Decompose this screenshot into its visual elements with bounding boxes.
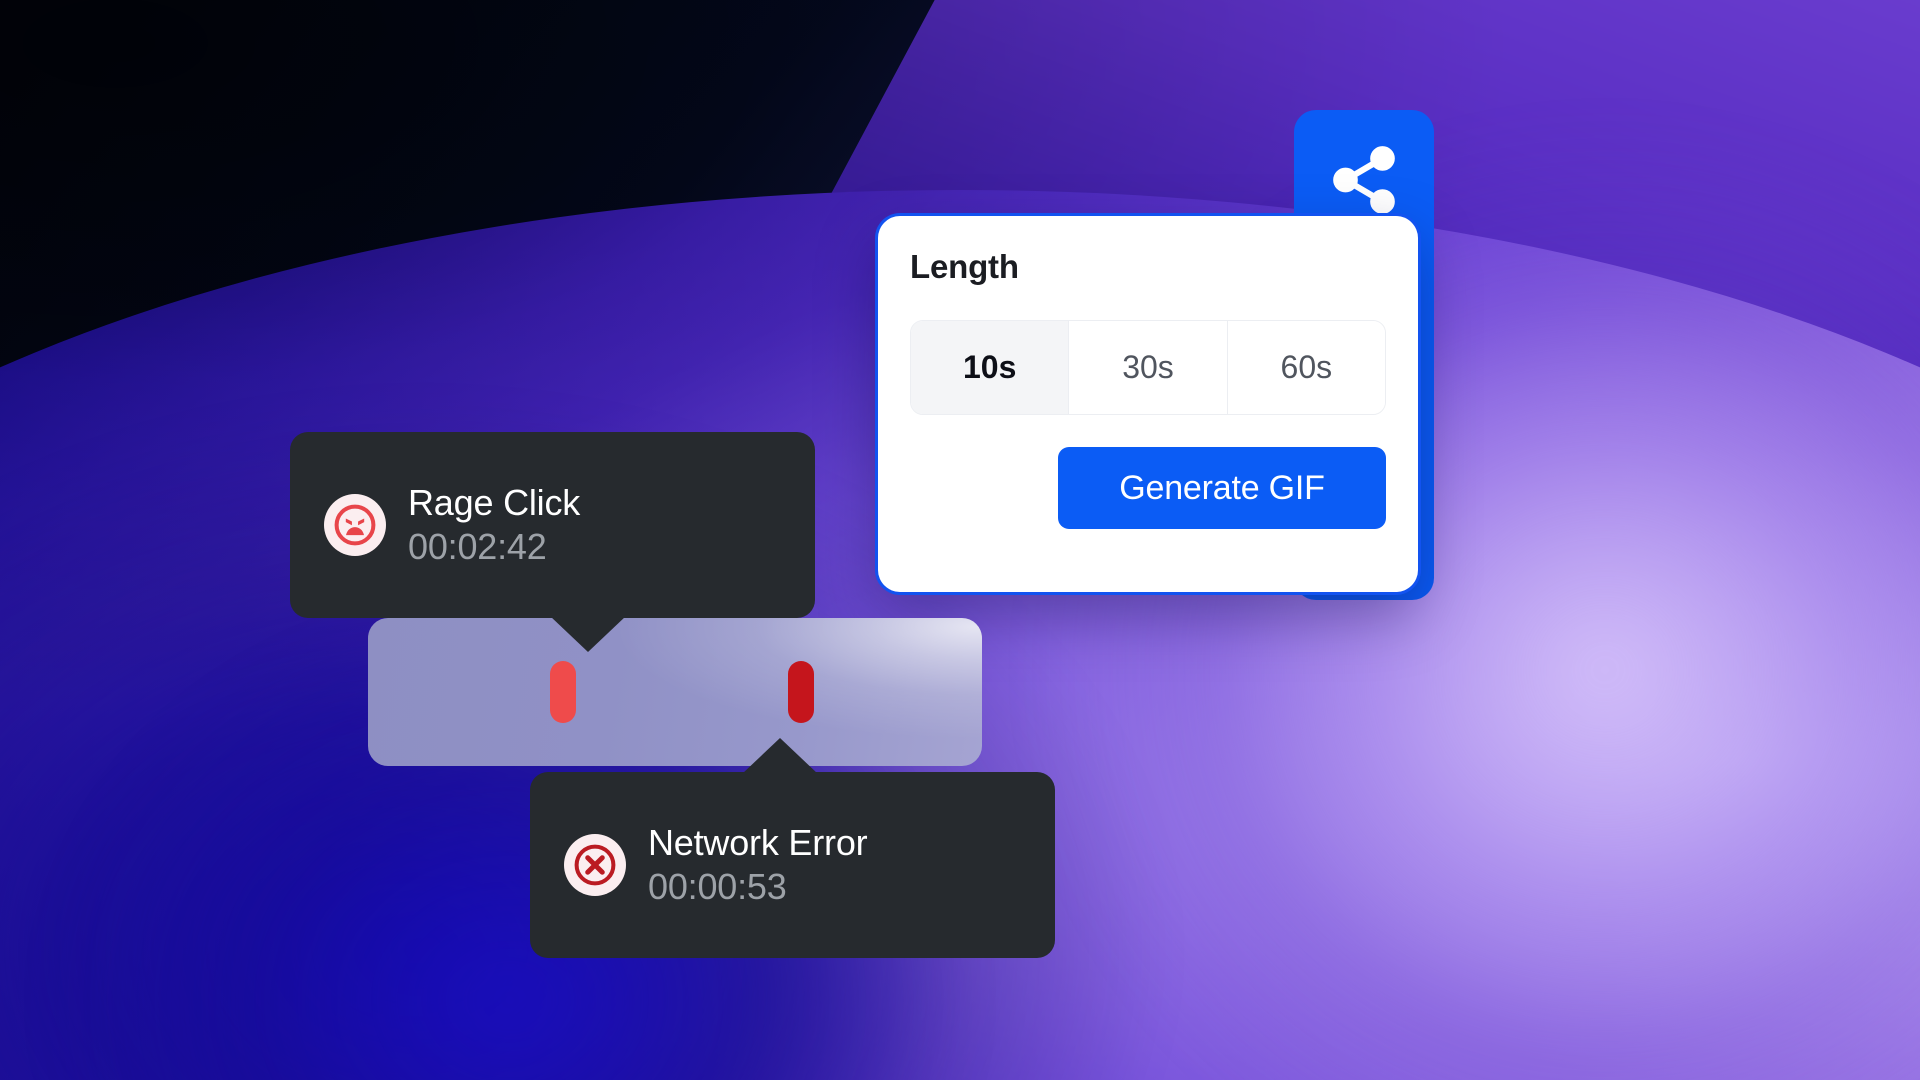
rage-click-text: Rage Click 00:02:42 (408, 484, 580, 567)
gif-settings-card: Length 10s 30s 60s Generate GIF (878, 216, 1418, 592)
event-title: Network Error (648, 824, 867, 863)
rage-click-marker[interactable] (550, 661, 576, 723)
event-timestamp: 00:02:42 (408, 528, 580, 567)
card-title: Length (910, 250, 1386, 283)
rage-click-tooltip[interactable]: Rage Click 00:02:42 (290, 432, 815, 618)
session-timeline[interactable] (368, 618, 982, 766)
network-error-text: Network Error 00:00:53 (648, 824, 867, 907)
share-icon (1327, 143, 1401, 217)
generate-gif-button[interactable]: Generate GIF (1058, 447, 1386, 529)
length-option-10s[interactable]: 10s (911, 321, 1068, 414)
network-error-marker[interactable] (788, 661, 814, 723)
tooltip-tail-down (550, 616, 626, 652)
event-title: Rage Click (408, 484, 580, 523)
length-option-30s[interactable]: 30s (1068, 321, 1226, 414)
app-stage: Length 10s 30s 60s Generate GIF (0, 0, 1920, 1080)
event-timestamp: 00:00:53 (648, 868, 867, 907)
length-segmented-control[interactable]: 10s 30s 60s (910, 320, 1386, 415)
tooltip-tail-up (742, 738, 818, 774)
card-actions: Generate GIF (910, 447, 1386, 529)
error-circle-x-icon (564, 834, 626, 896)
length-option-60s[interactable]: 60s (1227, 321, 1385, 414)
share-panel: Length 10s 30s 60s Generate GIF (878, 110, 1578, 730)
network-error-tooltip[interactable]: Network Error 00:00:53 (530, 772, 1055, 958)
angry-face-icon (324, 494, 386, 556)
